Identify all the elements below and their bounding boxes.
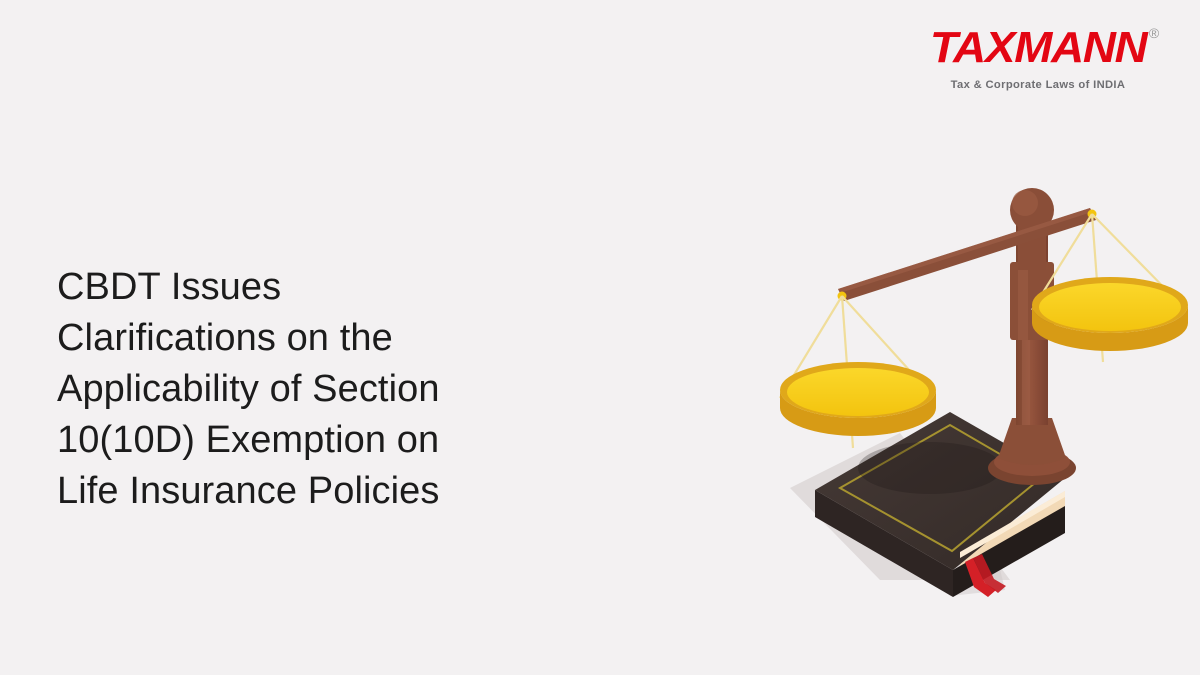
post-knob-highlight bbox=[1012, 190, 1038, 216]
post-collar-highlight bbox=[1018, 262, 1028, 340]
poster-canvas: TAXMANN ® Tax & Corporate Laws of INDIA … bbox=[0, 0, 1200, 675]
page-title: CBDT Issues Clarifications on the Applic… bbox=[57, 262, 617, 517]
balance-scale-on-law-book-illustration bbox=[760, 150, 1200, 620]
logo-wordmark: TAXMANN bbox=[930, 26, 1147, 70]
right-pan-top bbox=[1039, 283, 1181, 331]
left-pan-top bbox=[787, 368, 929, 416]
headline-line-5: Life Insurance Policies bbox=[57, 466, 617, 517]
headline-line-2: Clarifications on the bbox=[57, 313, 617, 364]
pan-shadow-on-book bbox=[858, 442, 1002, 494]
headline-line-3: Applicability of Section bbox=[57, 364, 617, 415]
post-base-flare bbox=[998, 418, 1066, 465]
headline-line-4: 10(10D) Exemption on bbox=[57, 415, 617, 466]
right-pan-assembly bbox=[1032, 214, 1188, 362]
registered-trademark-icon: ® bbox=[1149, 26, 1159, 40]
headline-line-1: CBDT Issues bbox=[57, 262, 617, 313]
logo-tagline: Tax & Corporate Laws of INDIA bbox=[928, 79, 1148, 91]
taxmann-logo: TAXMANN ® Tax & Corporate Laws of INDIA bbox=[928, 26, 1148, 91]
logo-wordmark-wrap: TAXMANN ® bbox=[934, 26, 1142, 70]
left-pan-assembly bbox=[780, 296, 936, 448]
